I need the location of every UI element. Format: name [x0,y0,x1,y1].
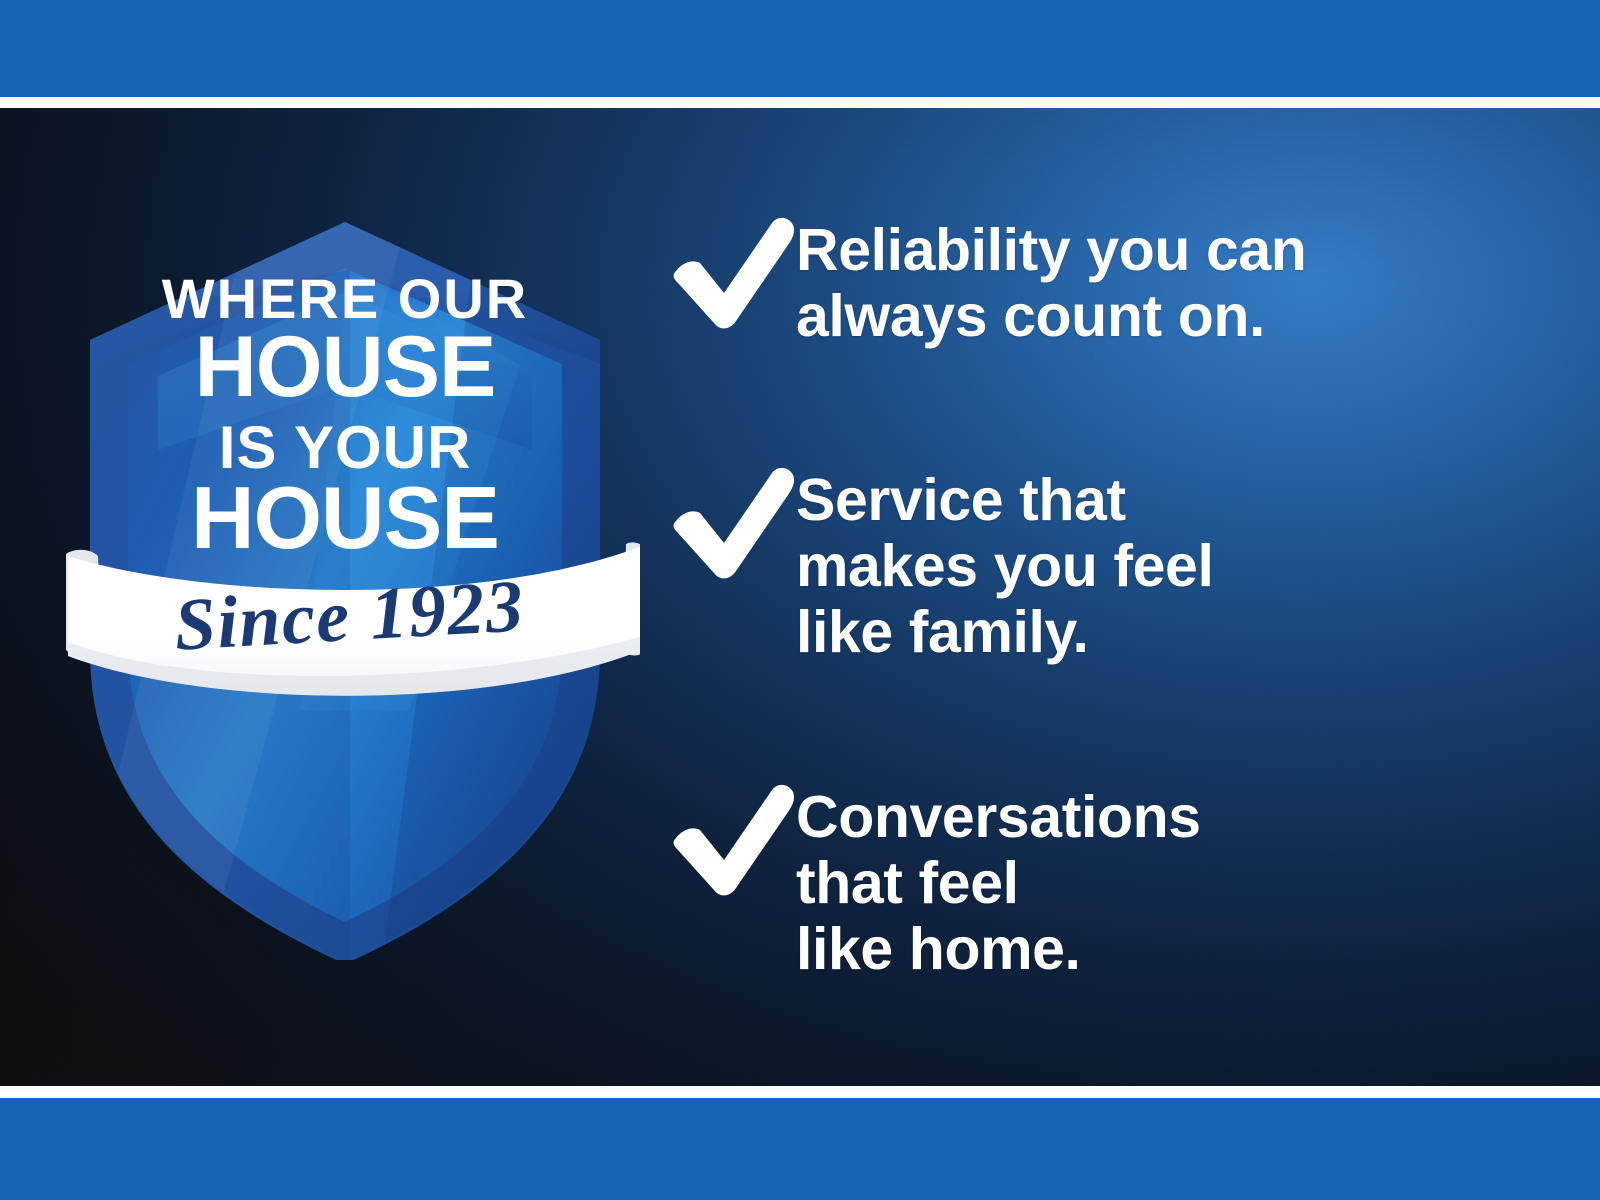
checkmark-icon [668,780,796,900]
benefits-list: Reliability you can always count on. Ser… [668,108,1528,1086]
shield-emblem: WHERE OUR HOUSE IS YOUR HOUSE Since 1923 [50,150,640,960]
checkmark-icon [668,213,796,333]
list-item: Conversations that feel like home. [668,780,1528,982]
checkmark-icon [668,463,796,583]
top-brand-bar [0,0,1600,97]
list-item-label: Reliability you can always count on. [796,213,1528,349]
shield-line-4: HOUSE [191,468,499,567]
list-item: Reliability you can always count on. [668,213,1528,349]
list-item: Service that makes you feel like family. [668,463,1528,665]
list-item-label: Conversations that feel like home. [796,780,1528,982]
shield-line-2: HOUSE [195,319,496,415]
bottom-brand-bar [0,1098,1600,1200]
promo-graphic: WHERE OUR HOUSE IS YOUR HOUSE Since 1923 [0,0,1600,1200]
list-item-label: Service that makes you feel like family. [796,463,1528,665]
